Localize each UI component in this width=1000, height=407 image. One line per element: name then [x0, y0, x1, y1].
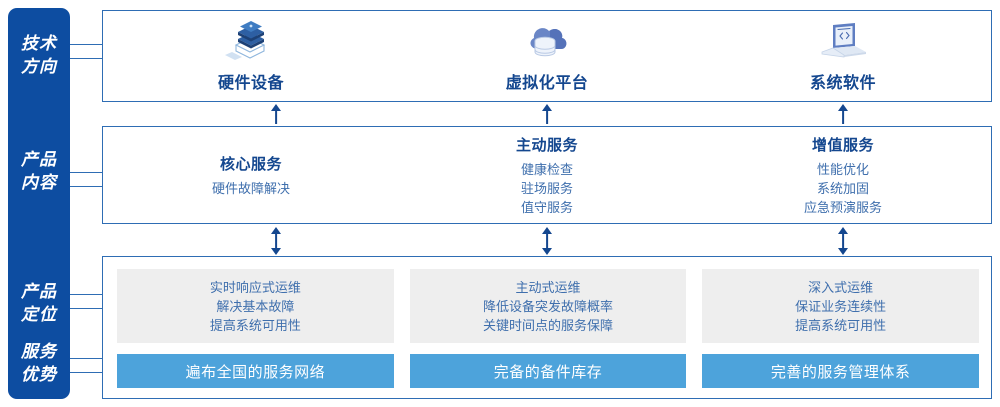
positioning-line: 主动式运维: [516, 278, 581, 297]
cloud-database-icon: [518, 19, 576, 65]
tech-label-hardware: 硬件设备: [218, 69, 284, 93]
connector-content-top: [70, 172, 102, 173]
positioning-row: 实时响应式运维 解决基本故障 提高系统可用性 主动式运维 降低设备突发故障概率 …: [117, 269, 979, 343]
connector-positioning-top: [70, 294, 102, 295]
arrow-virtualization-up: [537, 104, 557, 124]
rail-label-product-content: 产品 内容: [8, 148, 70, 194]
content-title-value-added-service: 增值服务: [812, 134, 874, 155]
positioning-line: 提高系统可用性: [795, 316, 886, 335]
positioning-box-realtime[interactable]: 实时响应式运维 解决基本故障 提高系统可用性: [117, 269, 394, 343]
content-line: 值守服务: [521, 198, 573, 217]
tech-label-system-software: 系统软件: [810, 69, 876, 93]
advantage-label: 完善的服务管理体系: [771, 361, 911, 382]
positioning-line: 解决基本故障: [216, 297, 294, 316]
positioning-box-proactive[interactable]: 主动式运维 降低设备突发故障概率 关键时间点的服务保障: [410, 269, 687, 343]
content-item-core-service[interactable]: 核心服务 硬件故障解决: [103, 127, 399, 223]
content-line: 健康检查: [521, 160, 573, 179]
server-stack-icon: [222, 19, 280, 65]
content-item-value-added-service[interactable]: 增值服务 性能优化 系统加固 应急预演服务: [695, 127, 991, 223]
tech-item-virtualization[interactable]: 虚拟化平台: [399, 11, 695, 101]
rail-label-service-advantage: 服务 优势: [8, 340, 70, 386]
arrow-proactive-service-bidirectional: [537, 227, 557, 255]
arrow-value-added-service-bidirectional: [833, 227, 853, 255]
category-rail: 技术 方向 产品 内容 产品 定位 服务 优势: [8, 8, 70, 399]
connector-advantage-top: [70, 358, 102, 359]
positioning-line: 保证业务连续性: [795, 297, 886, 316]
positioning-line: 深入式运维: [808, 278, 873, 297]
positioning-line: 降低设备突发故障概率: [483, 297, 613, 316]
product-content-panel: 核心服务 硬件故障解决 主动服务 健康检查 驻场服务 值守服务 增值服务 性能优…: [102, 126, 992, 224]
positioning-line: 实时响应式运维: [210, 278, 301, 297]
connector-content-bottom: [70, 186, 102, 187]
rail-label-product-positioning: 产品 定位: [8, 280, 70, 326]
positioning-line: 关键时间点的服务保障: [483, 316, 613, 335]
positioning-box-indepth[interactable]: 深入式运维 保证业务连续性 提高系统可用性: [702, 269, 979, 343]
rail-label-tech-direction: 技术 方向: [8, 32, 70, 78]
advantage-label: 完备的备件库存: [494, 361, 603, 382]
positioning-line: 提高系统可用性: [210, 316, 301, 335]
advantage-box-management-system[interactable]: 完善的服务管理体系: [702, 354, 979, 388]
tech-item-hardware[interactable]: 硬件设备: [103, 11, 399, 101]
connector-positioning-bottom: [70, 308, 102, 309]
content-item-proactive-service[interactable]: 主动服务 健康检查 驻场服务 值守服务: [399, 127, 695, 223]
arrow-system-software-up: [833, 104, 853, 124]
tech-item-system-software[interactable]: 系统软件: [695, 11, 991, 101]
advantage-row: 遍布全国的服务网络 完备的备件库存 完善的服务管理体系: [117, 354, 979, 388]
advantage-box-service-network[interactable]: 遍布全国的服务网络: [117, 354, 394, 388]
arrow-core-service-bidirectional: [266, 227, 286, 255]
advantage-label: 遍布全国的服务网络: [186, 361, 326, 382]
advantage-box-spare-parts[interactable]: 完备的备件库存: [410, 354, 687, 388]
tech-label-virtualization: 虚拟化平台: [506, 69, 589, 93]
content-line: 驻场服务: [521, 179, 573, 198]
content-line: 性能优化: [817, 160, 869, 179]
tech-direction-panel: 硬件设备 虚拟化平台: [102, 10, 992, 102]
content-line: 系统加固: [817, 179, 869, 198]
content-line: 硬件故障解决: [212, 179, 290, 198]
arrow-hardware-up: [266, 104, 286, 124]
laptop-code-icon: [814, 19, 872, 65]
content-line: 应急预演服务: [804, 198, 882, 217]
content-title-proactive-service: 主动服务: [516, 134, 578, 155]
connector-advantage-bottom: [70, 372, 102, 373]
positioning-advantage-panel: 实时响应式运维 解决基本故障 提高系统可用性 主动式运维 降低设备突发故障概率 …: [102, 256, 992, 399]
connector-tech-top: [70, 44, 102, 45]
connector-tech-bottom: [70, 58, 102, 59]
diagram-canvas: 技术 方向 产品 内容 产品 定位 服务 优势: [0, 0, 1000, 407]
content-title-core-service: 核心服务: [220, 153, 282, 174]
